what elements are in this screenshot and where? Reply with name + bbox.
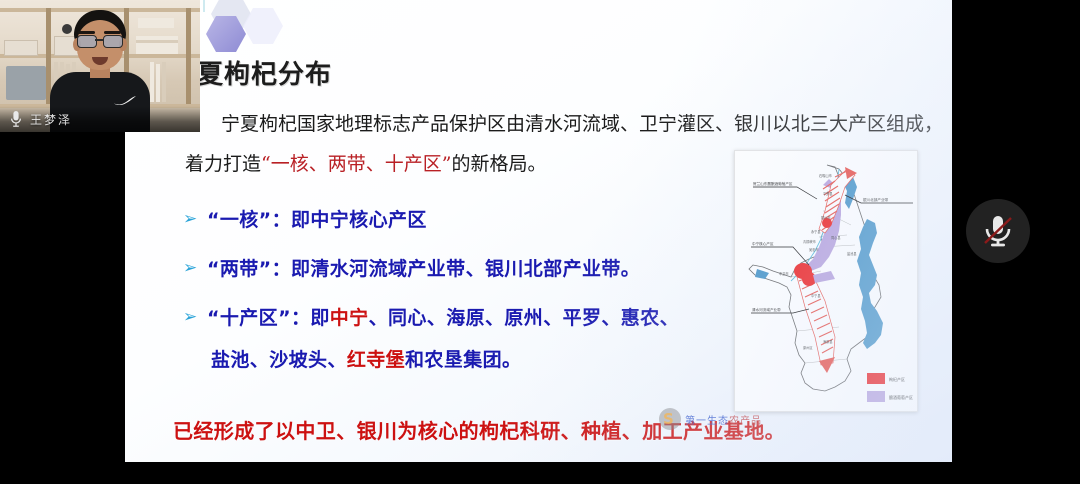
participant-name: 王梦泽 (30, 111, 72, 128)
watermark-text: 第一生态农产品 (685, 412, 762, 427)
cont-red-term: 红寺堡 (347, 349, 405, 371)
map-annotation-3: 清水河流域产业带 (752, 307, 781, 312)
bullet-arrow-icon: ➢ (183, 253, 207, 283)
paragraph-highlight: “一核、两带、十产区” (261, 153, 451, 175)
participant-name-bar: 王梦泽 (0, 106, 200, 132)
cont-lead: 盐池、沙坡头、 (211, 349, 347, 371)
bullet-arrow-icon: ➢ (183, 302, 207, 332)
participant-video-tile[interactable]: 王梦泽 (0, 0, 200, 132)
map-city-label: 盐池县 (847, 251, 857, 256)
legend-swatch-0 (867, 373, 885, 384)
watermark-overlay: S 第一生态农产品 (659, 408, 779, 434)
bullet3-rest: 、同心、海原、原州、平罗、惠农、 (369, 307, 679, 329)
map-graphic: 贺兰山东麓酿酒葡萄产区 银川北部产业带 中宁核心产区 清水河流域产业带 石嘴山市… (735, 151, 917, 411)
legend-label-0: 枸杞产区 (889, 376, 905, 382)
legend-swatch-1 (867, 391, 885, 402)
paragraph-part2: 的新格局。 (451, 153, 546, 175)
map-annotation-2: 中宁核心产区 (752, 241, 774, 246)
map-city-label: 原州区 (803, 345, 813, 350)
ningxia-production-zone-map: 贺兰山东麓酿酒葡萄产区 银川北部产业带 中宁核心产区 清水河流域产业带 石嘴山市… (734, 150, 918, 412)
hexagon-decoration (203, 0, 323, 56)
nike-swoosh-logo (114, 96, 136, 105)
map-city-label: 银川市 (821, 215, 831, 220)
map-city-label: 海原县 (823, 339, 833, 344)
slide-title: 夏枸杞分布 (197, 54, 332, 91)
map-city-label: 永宁县 (811, 229, 821, 234)
glasses-icon (76, 35, 124, 47)
cont-rest: 和农垦集团。 (405, 349, 521, 371)
microphone-muted-icon (982, 213, 1014, 249)
map-annotation-1: 银川北部产业带 (863, 197, 889, 202)
bullet-arrow-icon: ➢ (183, 204, 207, 234)
map-city-label: 石嘴山市 (819, 173, 833, 178)
watermark-badge: S (663, 410, 674, 428)
map-city-label: 吴忠市 (809, 247, 819, 252)
map-city-label: 中宁县 (811, 293, 821, 298)
bullet-text-1: “一核”：即中宁核心产区 (207, 205, 427, 235)
map-city-label: 同心县 (831, 235, 841, 240)
mute-status-badge[interactable] (966, 199, 1030, 263)
map-annotation-0: 贺兰山东麓酿酒葡萄产区 (753, 181, 793, 186)
map-city-label: 平罗县 (823, 191, 833, 196)
bullet-text-3: “十产区”：即中宁、同心、海原、原州、平罗、惠农、 (207, 303, 679, 333)
bullet3-red-term: 中宁 (330, 307, 369, 329)
meeting-screen-share-view: 夏枸杞分布 宁夏枸杞国家地理标志产品保护区由清水河流域、卫宁灌区、银川以北三大产… (0, 0, 1080, 484)
microphone-icon (10, 110, 22, 128)
map-city-label: 中卫市 (779, 271, 789, 276)
map-city-label: 青铜峡市 (803, 239, 817, 244)
bullet-text-2: “两带”：即清水河流域产业带、银川北部产业带。 (207, 254, 640, 284)
legend-label-1: 酿酒葡萄产区 (889, 394, 913, 400)
presentation-slide: 夏枸杞分布 宁夏枸杞国家地理标志产品保护区由清水河流域、卫宁灌区、银川以北三大产… (125, 0, 952, 462)
bullet3-lead: “十产区”：即 (207, 307, 330, 329)
